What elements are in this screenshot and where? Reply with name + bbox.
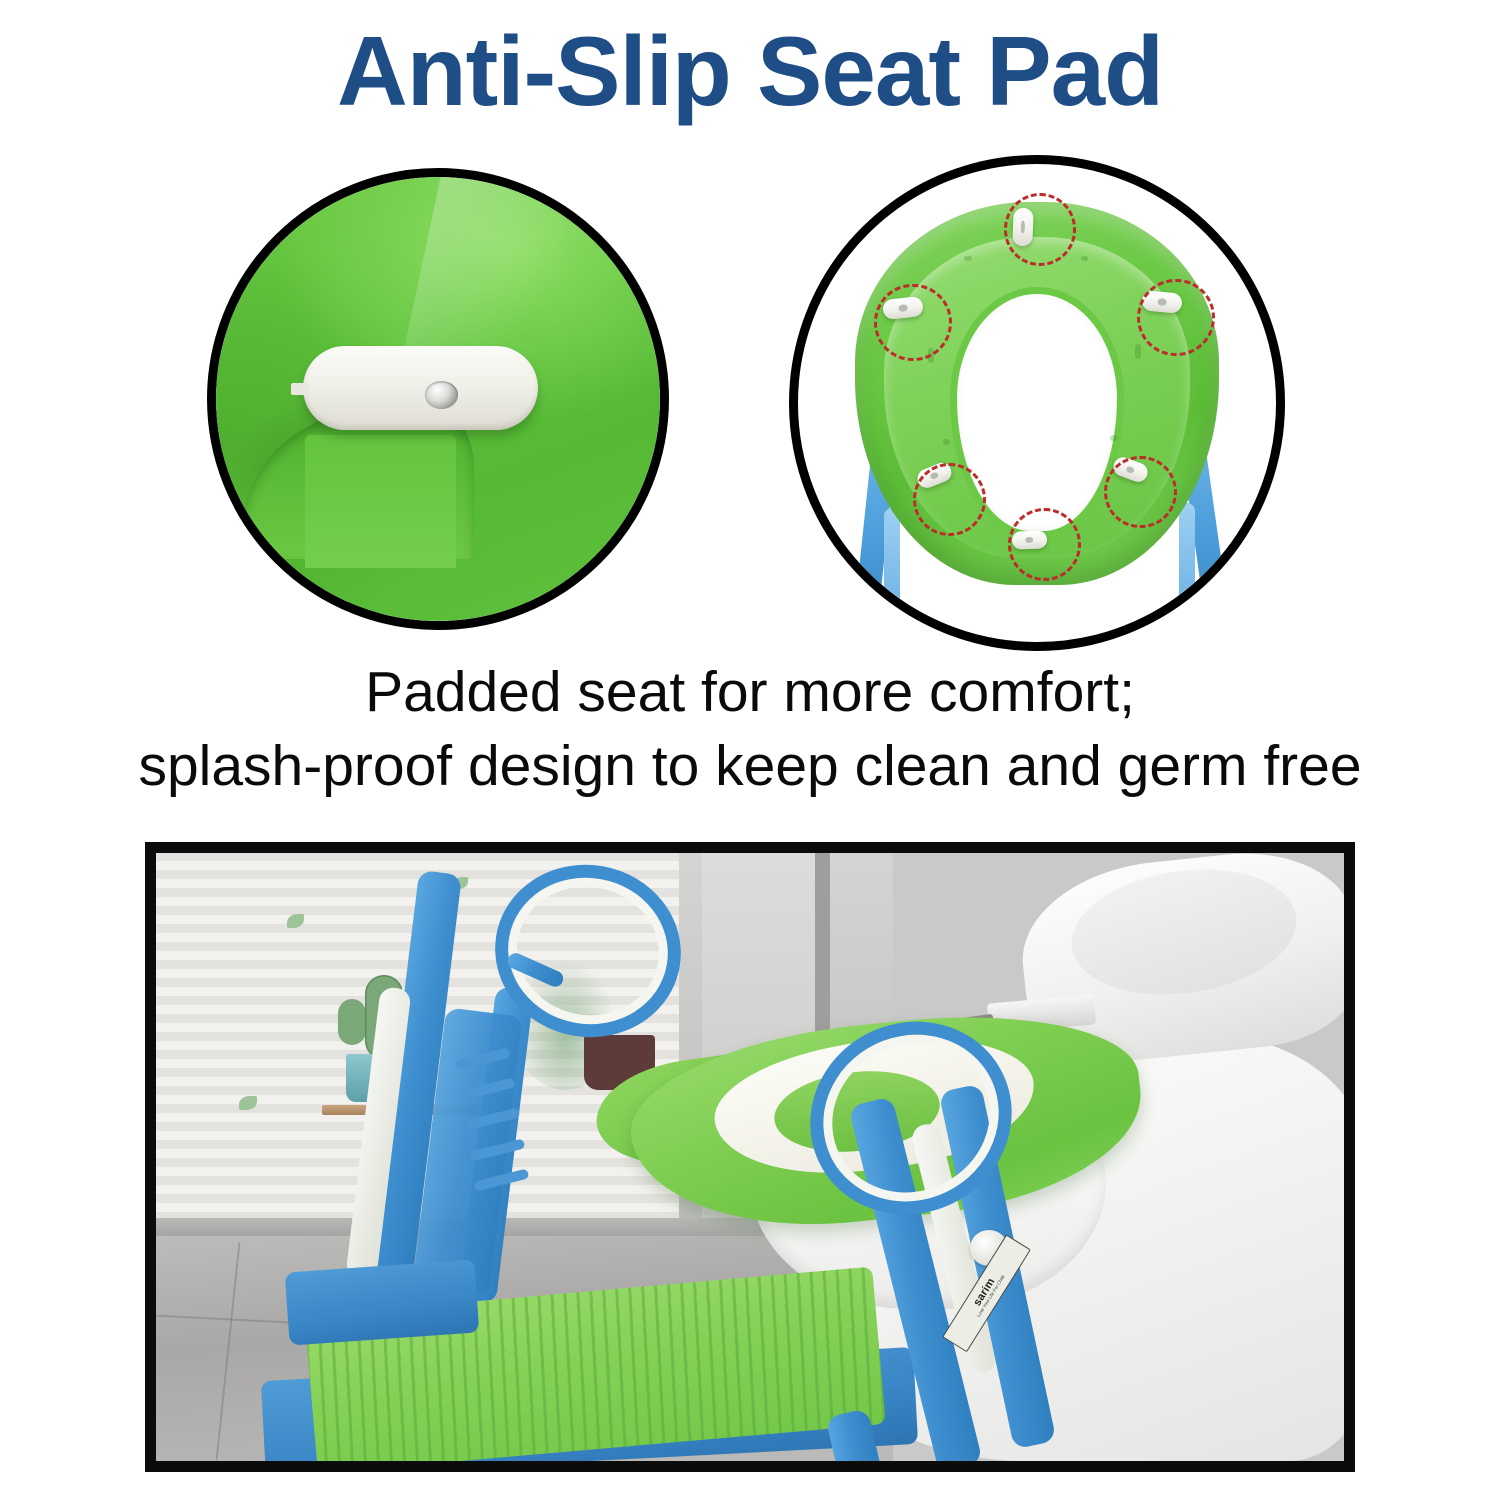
highlight-marker	[874, 284, 952, 362]
step-bracket	[284, 1260, 479, 1346]
pad-screw-icon	[425, 381, 458, 409]
seat-detail-notch	[964, 256, 971, 261]
callout-left-image	[216, 177, 660, 621]
lifestyle-photo: sarim Love Your Life For Child	[145, 842, 1355, 1472]
page-title: Anti-Slip Seat Pad	[0, 22, 1500, 120]
cactus-arm-icon	[338, 999, 367, 1045]
callout-right-image	[798, 164, 1276, 642]
callout-anti-slip-pad-closeup	[207, 168, 669, 630]
callout-seat-underside-pads	[789, 155, 1285, 651]
caption-line-1: Padded seat for more comfort;	[0, 655, 1500, 729]
highlight-marker	[1004, 193, 1077, 266]
caption-line-2: splash-proof design to keep clean and ge…	[0, 729, 1500, 803]
highlight-marker	[1104, 456, 1177, 529]
anti-slip-pad-tab	[291, 383, 309, 395]
highlight-marker	[1137, 279, 1215, 357]
anti-slip-pad	[303, 346, 538, 430]
seat-detail-notch	[943, 439, 950, 444]
seat-detail-notch	[1135, 344, 1141, 359]
highlight-marker	[1008, 508, 1081, 581]
seat-detail-notch	[1081, 256, 1088, 261]
seat-ridge-inner	[305, 435, 456, 568]
infographic-page: Anti-Slip Seat Pad	[0, 0, 1500, 1500]
highlight-marker	[913, 463, 986, 536]
seat-detail-notch	[1110, 435, 1117, 440]
